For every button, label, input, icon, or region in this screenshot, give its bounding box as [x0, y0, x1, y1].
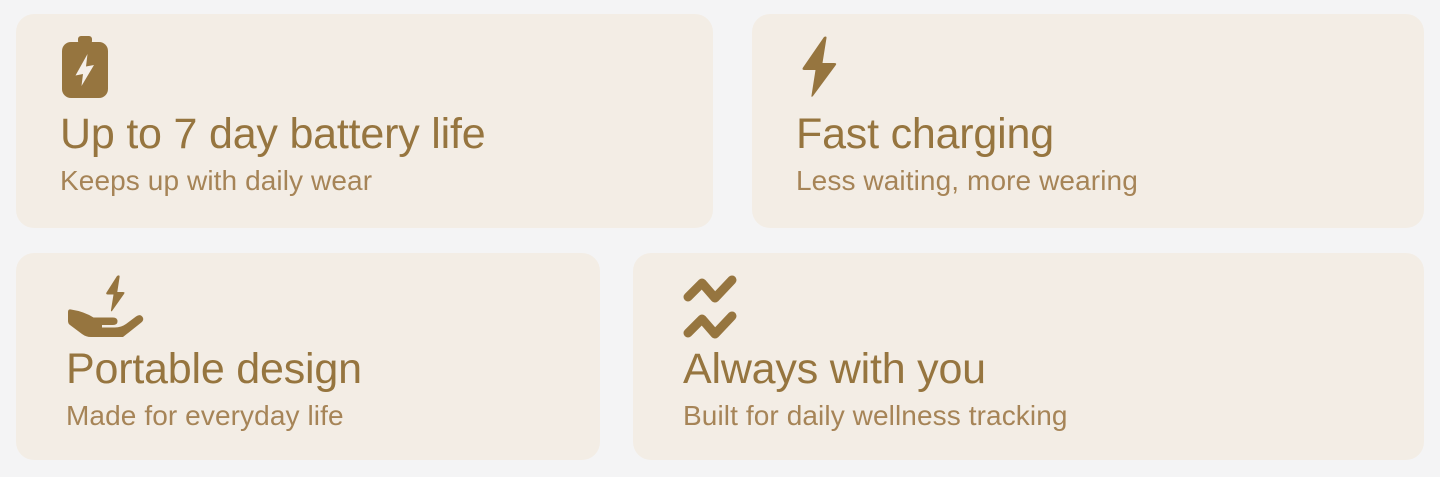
card-subtitle: Less waiting, more wearing [796, 164, 1400, 198]
card-title: Fast charging [796, 112, 1400, 158]
card-subtitle: Keeps up with daily wear [60, 164, 689, 198]
feature-card-battery-life[interactable]: Up to 7 day battery life Keeps up with d… [16, 14, 713, 228]
card-subtitle: Built for daily wellness tracking [683, 399, 1400, 433]
hand-holding-bolt-icon [66, 275, 576, 339]
lightning-bolt-icon [796, 36, 1400, 98]
card-title: Up to 7 day battery life [60, 112, 689, 158]
card-content: Up to 7 day battery life Keeps up with d… [60, 36, 689, 197]
battery-charging-icon [60, 36, 689, 98]
feature-card-always-with-you[interactable]: Always with you Built for daily wellness… [633, 253, 1424, 460]
feature-card-grid: Up to 7 day battery life Keeps up with d… [0, 0, 1440, 477]
activity-waves-icon [683, 275, 1400, 339]
feature-card-fast-charging[interactable]: Fast charging Less waiting, more wearing [752, 14, 1424, 228]
card-content: Portable design Made for everyday life [66, 275, 576, 432]
card-subtitle: Made for everyday life [66, 399, 576, 433]
card-title: Always with you [683, 347, 1400, 393]
card-content: Fast charging Less waiting, more wearing [796, 36, 1400, 197]
card-content: Always with you Built for daily wellness… [683, 275, 1400, 432]
feature-card-portable-design[interactable]: Portable design Made for everyday life [16, 253, 600, 460]
card-title: Portable design [66, 347, 576, 393]
